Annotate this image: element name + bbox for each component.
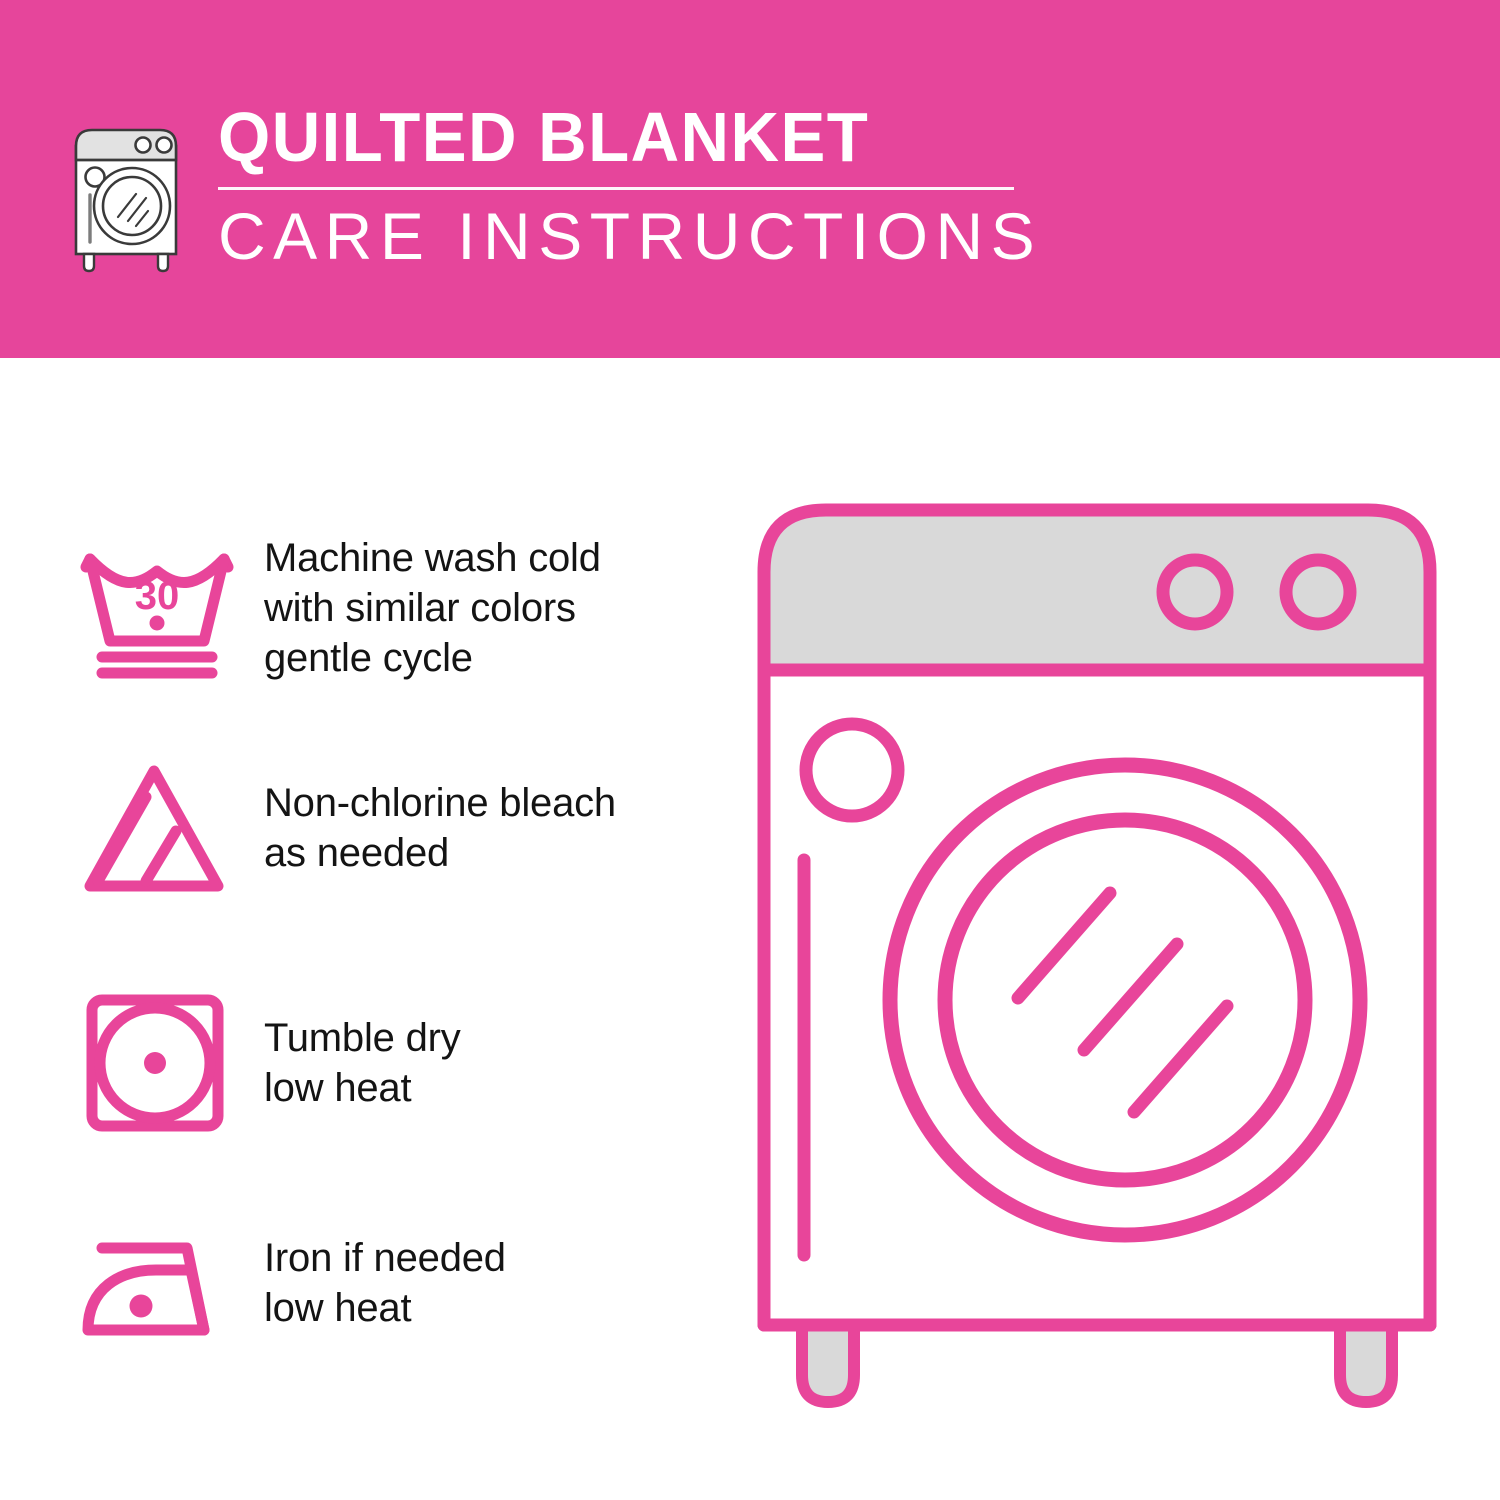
care-row-tumble-dry: Tumble dry low heat <box>72 978 712 1148</box>
wash-tub-30-gentle-icon: 30 <box>72 523 242 693</box>
header-titles: QUILTED BLANKET CARE INSTRUCTIONS <box>218 100 1018 272</box>
washer-leg <box>802 1320 1392 1402</box>
care-row-bleach: Non-chlorine bleach as needed <box>72 743 712 913</box>
tumble-dry-low-icon <box>72 978 242 1148</box>
iron-low-heat-icon <box>72 1198 242 1368</box>
care-label-tumble-dry: Tumble dry low heat <box>264 1013 461 1113</box>
title-divider <box>218 187 1014 190</box>
washing-machine-icon <box>62 114 190 274</box>
header-content: QUILTED BLANKET CARE INSTRUCTIONS <box>62 100 1018 274</box>
non-chlorine-bleach-triangle-icon <box>72 743 242 913</box>
care-row-machine-wash: 30 Machine wash cold with similar colors… <box>72 523 712 693</box>
header-banner: QUILTED BLANKET CARE INSTRUCTIONS <box>0 0 1500 358</box>
care-label-iron: Iron if needed low heat <box>264 1233 506 1333</box>
front-load-washing-machine-illustration <box>740 480 1470 1430</box>
care-label-bleach: Non-chlorine bleach as needed <box>264 778 616 878</box>
page-title: QUILTED BLANKET <box>218 100 986 174</box>
care-row-iron: Iron if needed low heat <box>72 1198 712 1368</box>
care-label-machine-wash: Machine wash cold with similar colors ge… <box>264 533 601 683</box>
wash-temperature-label: 30 <box>135 574 180 618</box>
page-subtitle: CARE INSTRUCTIONS <box>218 200 1018 272</box>
care-instruction-list: 30 Machine wash cold with similar colors… <box>0 358 740 1500</box>
